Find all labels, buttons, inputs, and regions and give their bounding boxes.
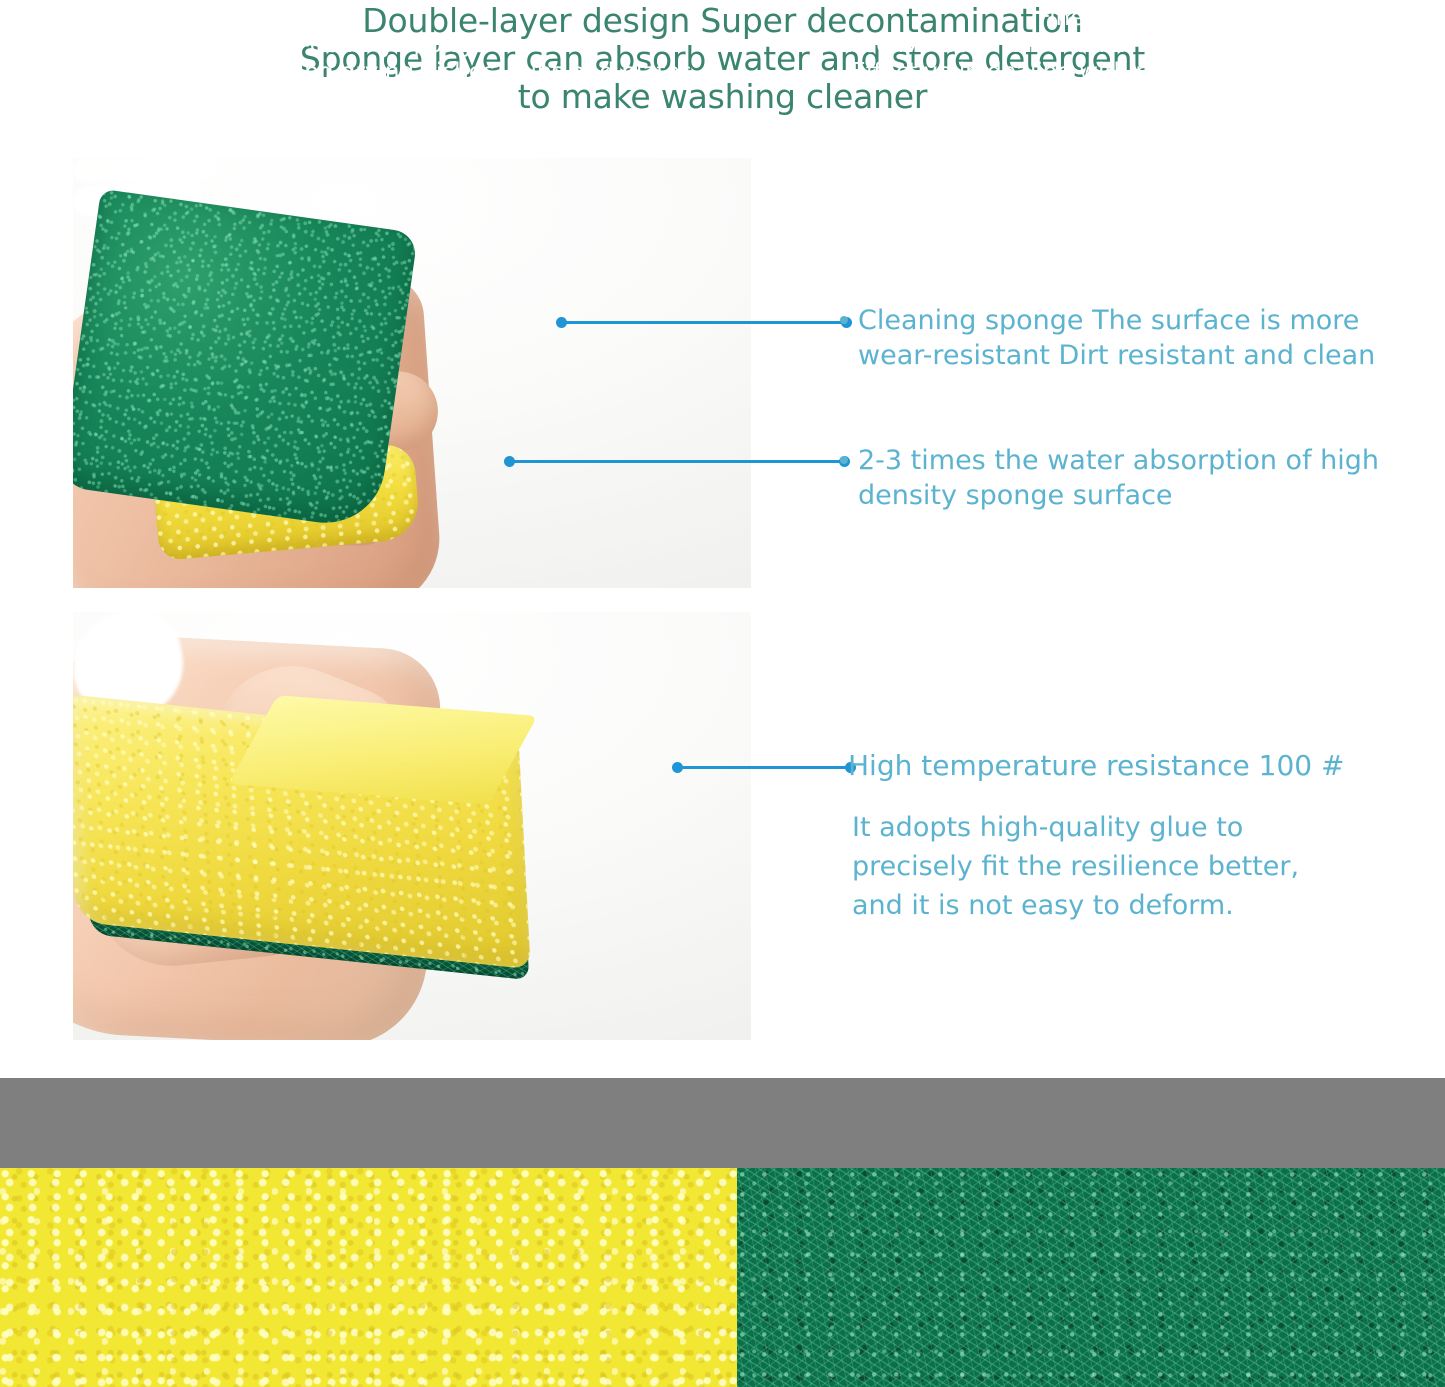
product-photo-yellow-side bbox=[73, 612, 751, 1040]
bullet-icon bbox=[840, 456, 848, 464]
callout-text: Cleaning sponge The surface is more wear… bbox=[858, 305, 1375, 371]
sponge-object bbox=[73, 189, 458, 588]
callout-cleaning-sponge-surface: Cleaning sponge The surface is more wear… bbox=[858, 303, 1423, 373]
leader-dot-start bbox=[556, 317, 567, 328]
leader-line-cleaning-sponge bbox=[560, 321, 848, 324]
callout-high-temperature-resistance: High temperature resistance 100 # bbox=[848, 748, 1433, 783]
leader-line-water-absorption bbox=[508, 460, 846, 463]
callout-text: 2-3 times the water absorption of high d… bbox=[858, 445, 1379, 511]
leader-dot-start bbox=[672, 762, 683, 773]
callout-text: High temperature resistance 100 # bbox=[848, 749, 1344, 782]
leader-line-high-temperature bbox=[676, 766, 852, 769]
caption-line: Fine fiber bbox=[737, 5, 1445, 32]
caption-high-density-sponge: high-density sponge Suitable for cleanin… bbox=[0, 0, 737, 90]
green-texture bbox=[73, 189, 418, 531]
product-photo-green-side bbox=[73, 158, 751, 588]
caption-line: high-density sponge bbox=[0, 32, 737, 59]
sponge-green-layer bbox=[73, 189, 418, 531]
caption-line: Effective decontamination and easy clean… bbox=[737, 32, 1445, 59]
caption-line: Effective in dealing with rust, grease, … bbox=[737, 59, 1445, 86]
callout-water-absorption: 2-3 times the water absorption of high d… bbox=[858, 443, 1423, 513]
leader-dot-start bbox=[504, 456, 515, 467]
swatch-green-fiber bbox=[737, 1168, 1445, 1387]
caption-line: Suitable for cleaning and drying dishes,… bbox=[0, 59, 737, 86]
green-fiber-texture bbox=[737, 1168, 1445, 1387]
sponge-object bbox=[73, 705, 551, 1029]
bullet-icon bbox=[840, 316, 848, 324]
callout-text: It adopts high-quality glue to precisely… bbox=[852, 812, 1299, 921]
yellow-sponge-texture bbox=[0, 1168, 737, 1387]
caption-fine-fiber: Fine fiber Effective decontamination and… bbox=[737, 0, 1445, 90]
callout-glue-resilience: It adopts high-quality glue to precisely… bbox=[852, 808, 1352, 925]
swatch-yellow-sponge bbox=[0, 1168, 737, 1387]
comparison-caption-bar bbox=[0, 1078, 1445, 1168]
infographic-page: Double-layer design Super decontaminatio… bbox=[0, 0, 1445, 1387]
